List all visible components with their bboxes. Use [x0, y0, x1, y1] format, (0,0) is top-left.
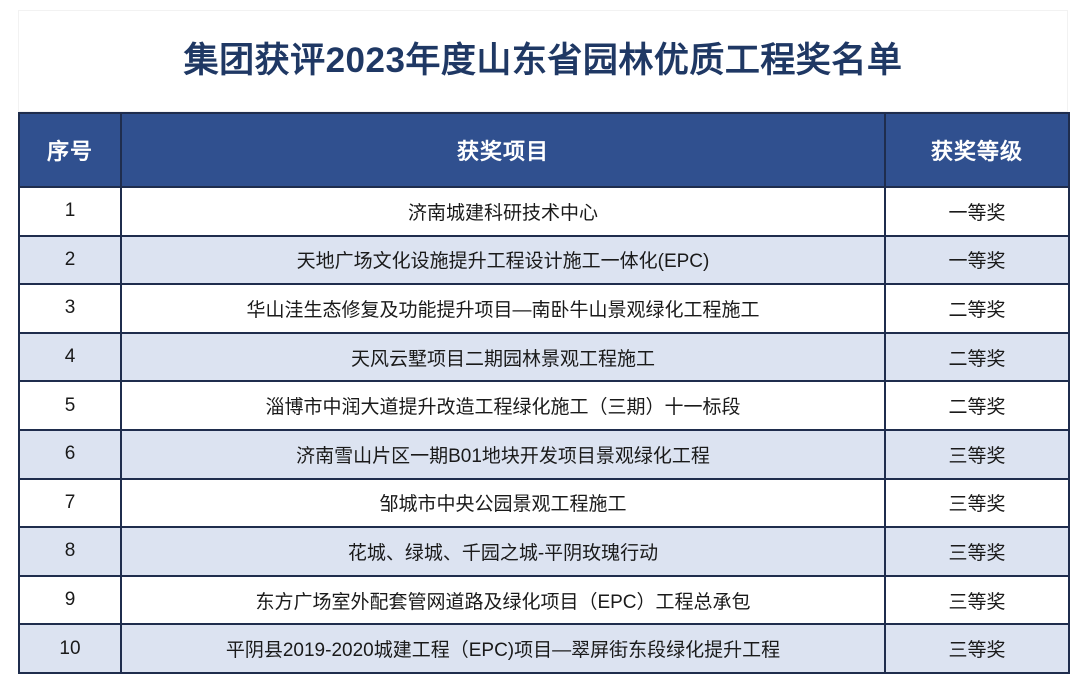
cell-no: 2	[19, 236, 121, 285]
document-page: 集团获评2023年度山东省园林优质工程奖名单 序号 获奖项目 获奖等级 1 济南…	[0, 0, 1080, 686]
cell-no: 1	[19, 187, 121, 236]
cell-project: 花城、绿城、千园之城-平阴玫瑰行动	[121, 527, 885, 576]
column-header-project: 获奖项目	[121, 113, 885, 187]
cell-project: 东方广场室外配套管网道路及绿化项目（EPC）工程总承包	[121, 576, 885, 625]
table-row: 9 东方广场室外配套管网道路及绿化项目（EPC）工程总承包 三等奖	[19, 576, 1069, 625]
cell-grade: 三等奖	[885, 527, 1069, 576]
cell-no: 9	[19, 576, 121, 625]
page-title: 集团获评2023年度山东省园林优质工程奖名单	[184, 42, 903, 81]
cell-project: 平阴县2019-2020城建工程（EPC)项目—翠屏街东段绿化提升工程	[121, 624, 885, 673]
table-row: 6 济南雪山片区一期B01地块开发项目景观绿化工程 三等奖	[19, 430, 1069, 479]
table-header: 序号 获奖项目 获奖等级	[19, 113, 1069, 187]
table-row: 1 济南城建科研技术中心 一等奖	[19, 187, 1069, 236]
table-row: 4 天风云墅项目二期园林景观工程施工 二等奖	[19, 333, 1069, 382]
cell-project: 天风云墅项目二期园林景观工程施工	[121, 333, 885, 382]
table-row: 5 淄博市中润大道提升改造工程绿化施工（三期）十一标段 二等奖	[19, 381, 1069, 430]
cell-no: 4	[19, 333, 121, 382]
table-row: 7 邹城市中央公园景观工程施工 三等奖	[19, 479, 1069, 528]
cell-project: 华山洼生态修复及功能提升项目—南卧牛山景观绿化工程施工	[121, 284, 885, 333]
cell-grade: 二等奖	[885, 381, 1069, 430]
cell-grade: 三等奖	[885, 624, 1069, 673]
cell-no: 3	[19, 284, 121, 333]
table-body: 1 济南城建科研技术中心 一等奖 2 天地广场文化设施提升工程设计施工一体化(E…	[19, 187, 1069, 673]
cell-project: 邹城市中央公园景观工程施工	[121, 479, 885, 528]
cell-grade: 一等奖	[885, 187, 1069, 236]
column-header-no: 序号	[19, 113, 121, 187]
award-list-table: 序号 获奖项目 获奖等级 1 济南城建科研技术中心 一等奖 2 天地广场文化设施…	[18, 112, 1070, 674]
table-row: 3 华山洼生态修复及功能提升项目—南卧牛山景观绿化工程施工 二等奖	[19, 284, 1069, 333]
cell-grade: 三等奖	[885, 430, 1069, 479]
cell-project: 济南城建科研技术中心	[121, 187, 885, 236]
cell-grade: 一等奖	[885, 236, 1069, 285]
cell-grade: 二等奖	[885, 333, 1069, 382]
column-header-grade: 获奖等级	[885, 113, 1069, 187]
cell-grade: 二等奖	[885, 284, 1069, 333]
cell-no: 5	[19, 381, 121, 430]
cell-grade: 三等奖	[885, 479, 1069, 528]
cell-project: 天地广场文化设施提升工程设计施工一体化(EPC)	[121, 236, 885, 285]
cell-no: 10	[19, 624, 121, 673]
cell-no: 7	[19, 479, 121, 528]
table-row: 10 平阴县2019-2020城建工程（EPC)项目—翠屏街东段绿化提升工程 三…	[19, 624, 1069, 673]
table-row: 2 天地广场文化设施提升工程设计施工一体化(EPC) 一等奖	[19, 236, 1069, 285]
cell-project: 济南雪山片区一期B01地块开发项目景观绿化工程	[121, 430, 885, 479]
table-row: 8 花城、绿城、千园之城-平阴玫瑰行动 三等奖	[19, 527, 1069, 576]
cell-grade: 三等奖	[885, 576, 1069, 625]
cell-no: 6	[19, 430, 121, 479]
document-title-banner: 集团获评2023年度山东省园林优质工程奖名单	[18, 10, 1068, 112]
cell-project: 淄博市中润大道提升改造工程绿化施工（三期）十一标段	[121, 381, 885, 430]
table-header-row: 序号 获奖项目 获奖等级	[19, 113, 1069, 187]
cell-no: 8	[19, 527, 121, 576]
